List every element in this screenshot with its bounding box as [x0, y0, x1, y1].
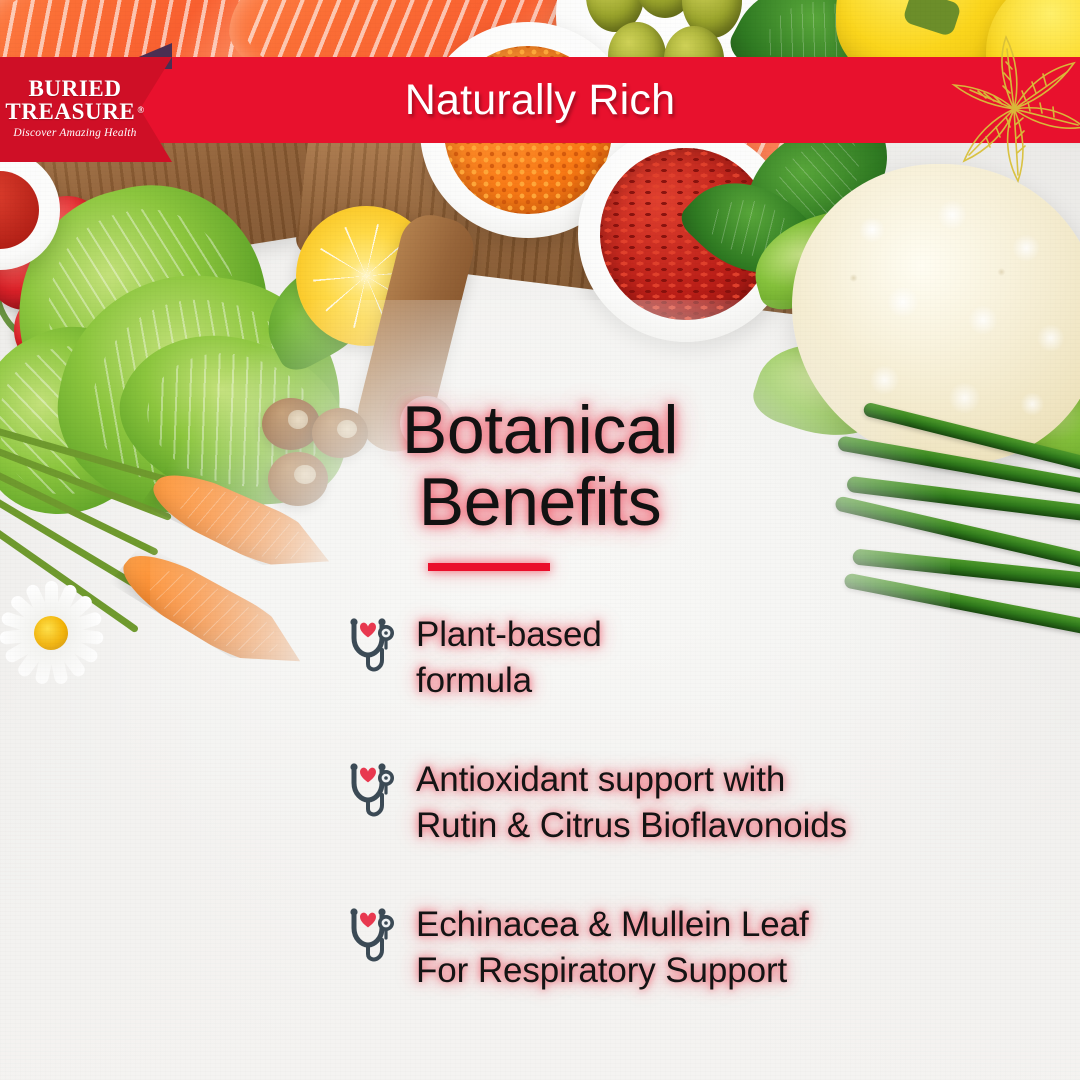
page-title: Botanical Benefits [0, 394, 1080, 538]
headline-line-2: Benefits [0, 466, 1080, 538]
list-item-text: Plant-based formula [416, 612, 602, 703]
benefits-list: Plant-based formula [344, 612, 964, 993]
list-item-line: For Respiratory Support [416, 948, 809, 994]
banner-title: Naturally Rich [405, 76, 675, 125]
list-item: Plant-based formula [344, 612, 964, 703]
list-item-line: Rutin & Citrus Bioflavonoids [416, 803, 847, 849]
logo-line-2: TREASURE ® [5, 101, 144, 123]
logo-line-1: BURIED [28, 78, 121, 100]
list-item: Echinacea & Mullein Leaf For Respiratory… [344, 902, 964, 993]
promo-canvas: Naturally Rich BURIED [0, 0, 1080, 1080]
stethoscope-heart-icon [344, 618, 396, 674]
stethoscope-heart-icon [344, 763, 396, 819]
registered-mark: ® [137, 106, 144, 115]
logo-content: BURIED TREASURE ® Discover Amazing Healt… [0, 57, 150, 162]
headline-line-1: Botanical [0, 394, 1080, 466]
brand-logo-ribbon[interactable]: BURIED TREASURE ® Discover Amazing Healt… [0, 57, 172, 162]
title-underline-rule [428, 563, 550, 571]
brand-tagline: Discover Amazing Health [13, 127, 136, 139]
list-item-line: formula [416, 658, 602, 704]
list-item-text: Echinacea & Mullein Leaf For Respiratory… [416, 902, 809, 993]
logo-line-2-text: TREASURE [5, 101, 135, 123]
list-item-line: Antioxidant support with [416, 757, 847, 803]
stethoscope-heart-icon [344, 908, 396, 964]
list-item-text: Antioxidant support with Rutin & Citrus … [416, 757, 847, 848]
list-item-line: Echinacea & Mullein Leaf [416, 902, 809, 948]
main-content: Botanical Benefits [0, 0, 1080, 1080]
list-item-line: Plant-based [416, 612, 602, 658]
list-item: Antioxidant support with Rutin & Citrus … [344, 757, 964, 848]
